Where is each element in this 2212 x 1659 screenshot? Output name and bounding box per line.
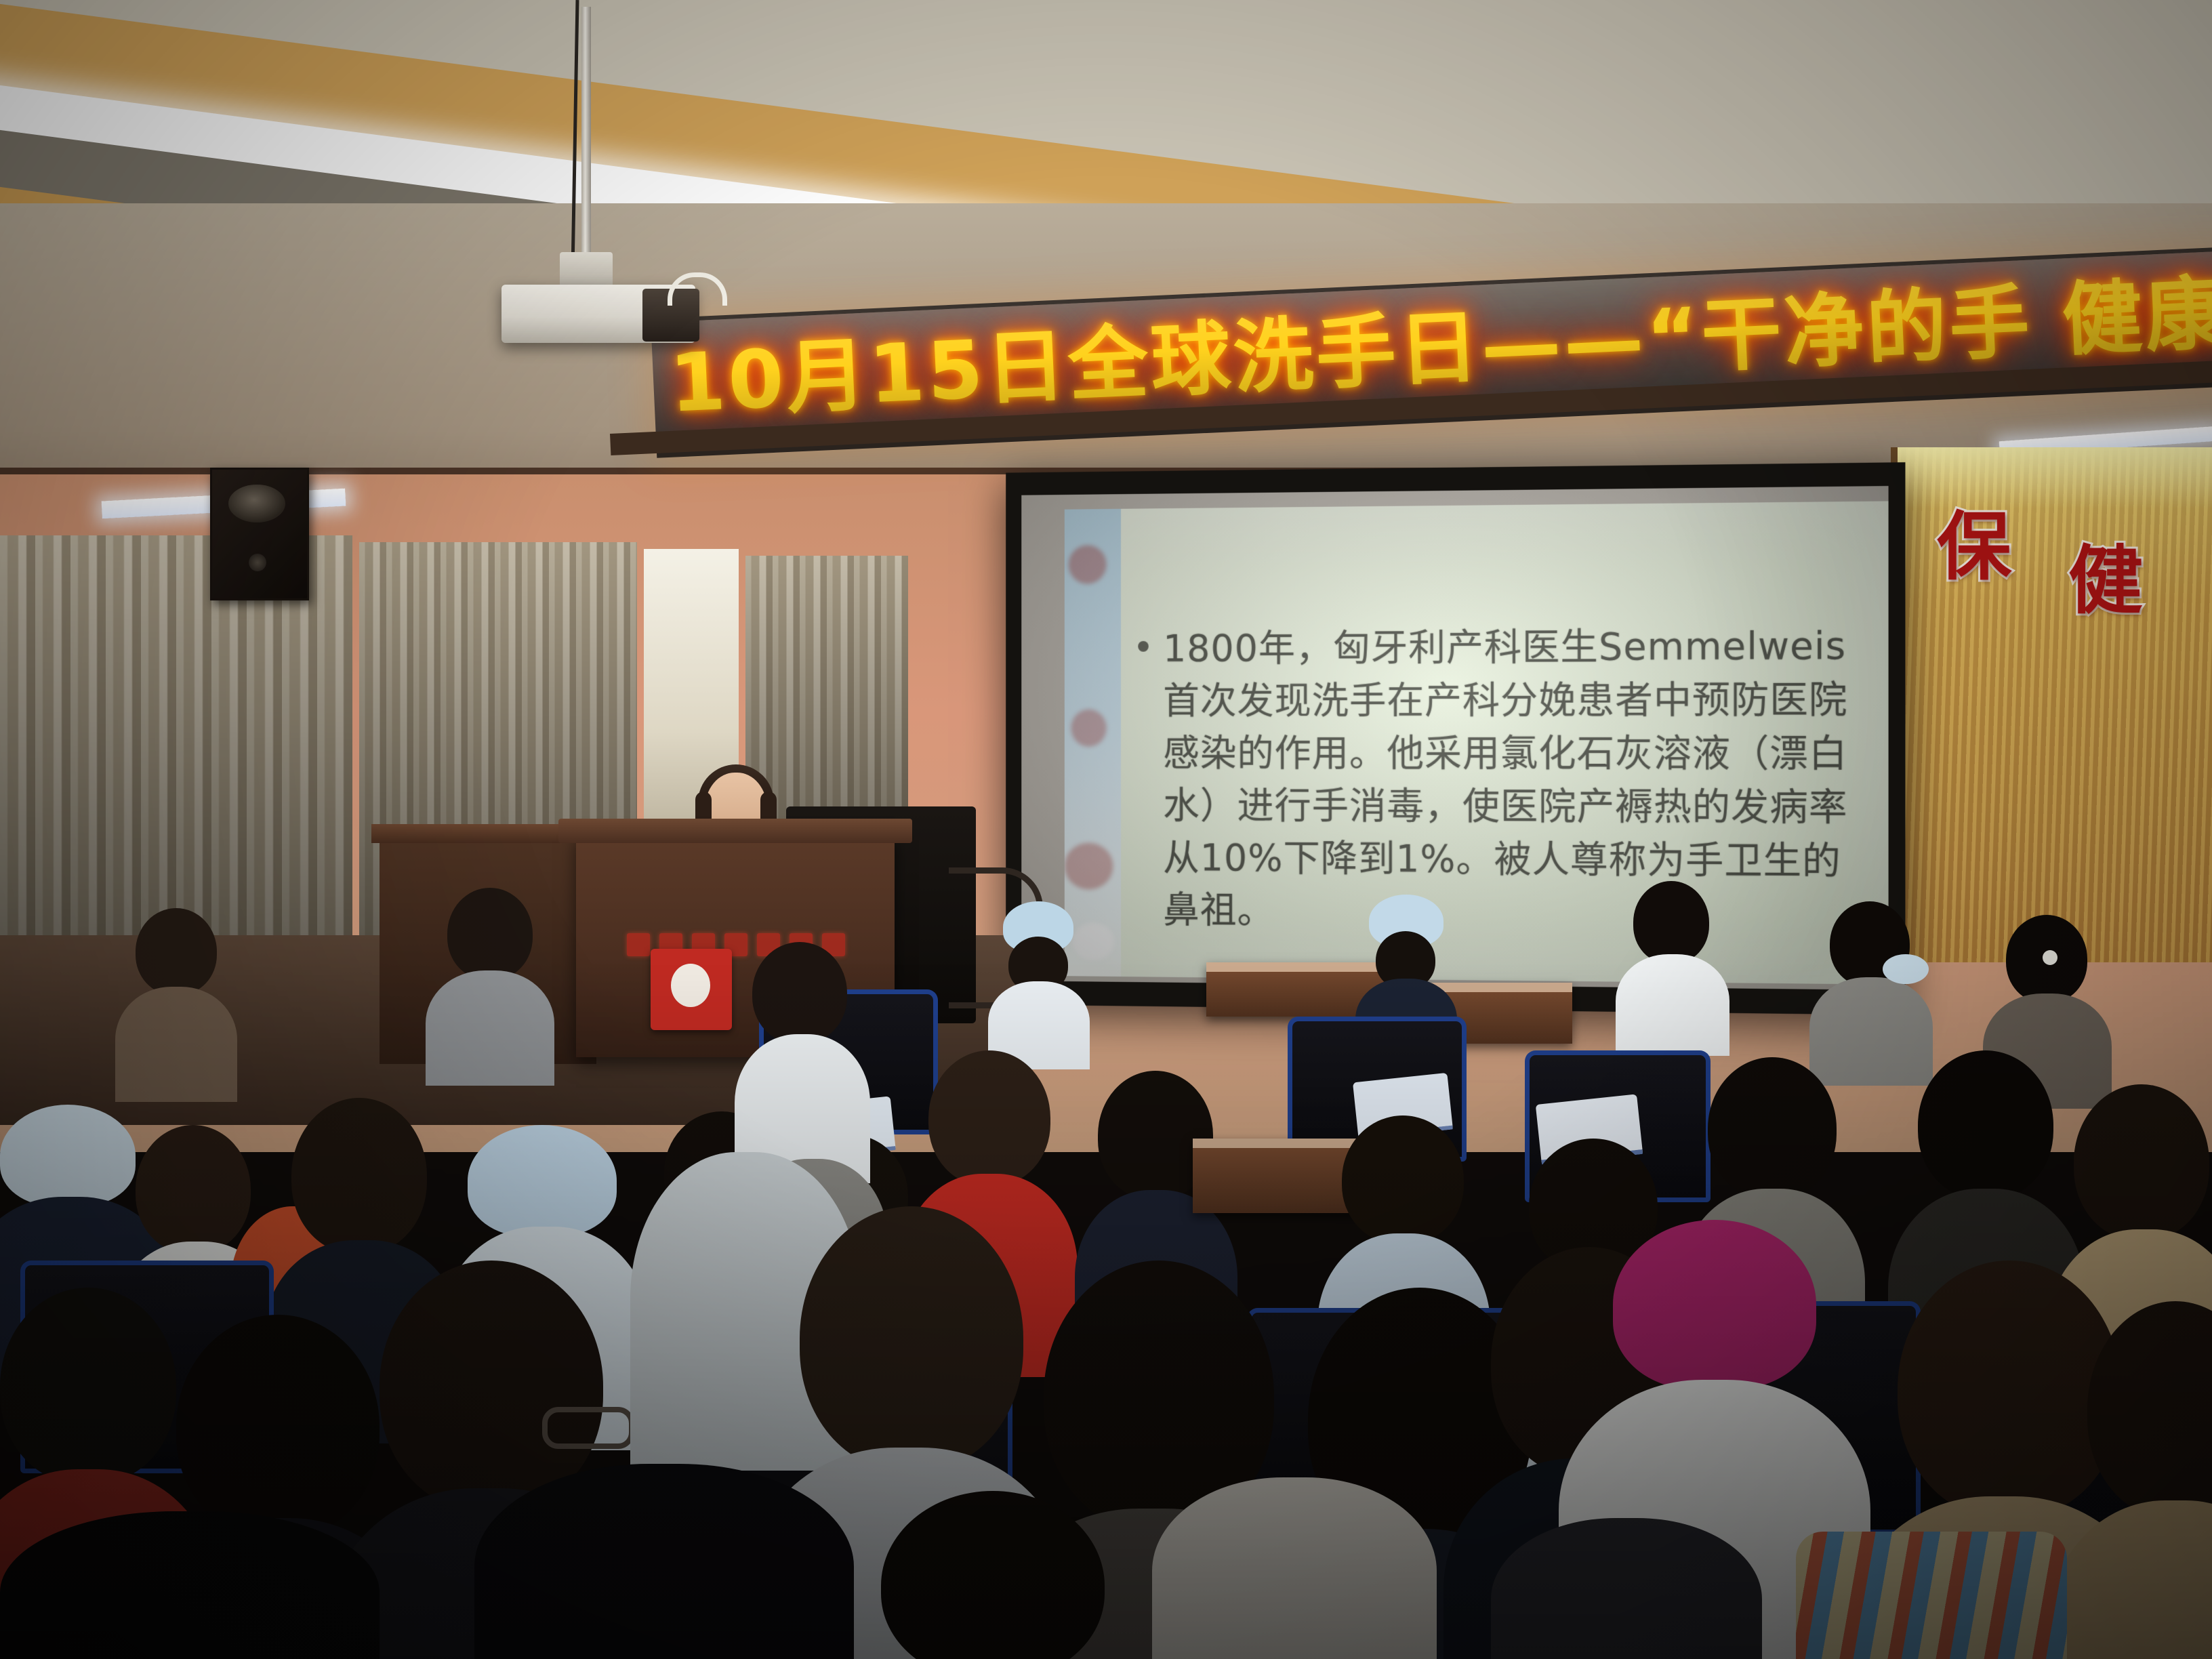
person-head — [928, 1050, 1050, 1186]
conference-hall-photo: 10月15日全球洗手日——“干净的手 健康的秘诀 保 健 — [0, 0, 2212, 1659]
person-head — [1342, 1115, 1464, 1244]
blue-surgical-cap — [0, 1105, 136, 1206]
person-torso — [0, 1511, 380, 1659]
person-head — [136, 1125, 251, 1254]
person-torso — [1616, 954, 1729, 1056]
projector-mount-pole — [581, 7, 591, 264]
person-head — [1633, 881, 1709, 964]
slide-bubble-icon — [1069, 545, 1107, 584]
person-torso — [426, 970, 554, 1086]
person-head — [1708, 1057, 1837, 1200]
panel-gloss — [1898, 447, 2212, 508]
person-torso — [474, 1464, 854, 1659]
hair-clip — [2043, 950, 2057, 965]
seated-audience — [0, 881, 2212, 1659]
person-head — [0, 1288, 176, 1484]
person-torso — [1809, 977, 1933, 1086]
person-head — [1898, 1261, 2121, 1518]
banner-char-bao: 保 — [1937, 510, 2011, 584]
slide-bullet-icon — [1138, 641, 1149, 652]
hair-bow — [1883, 954, 1929, 984]
person-torso — [1152, 1477, 1437, 1659]
wall-speaker — [210, 468, 309, 600]
speaker-cone-icon — [228, 485, 285, 523]
blue-surgical-cap — [468, 1125, 617, 1237]
person-torso — [115, 987, 237, 1102]
person-head — [447, 888, 533, 980]
person-head — [2074, 1084, 2209, 1240]
person-torso — [1491, 1518, 1762, 1659]
ceiling-projector — [501, 285, 695, 343]
speaker-tweeter-icon — [249, 554, 266, 571]
striped-sleeve — [1796, 1532, 2067, 1659]
magenta-knit-cap — [1613, 1220, 1816, 1389]
person-head — [176, 1315, 380, 1538]
person-head — [380, 1261, 603, 1511]
person-head — [752, 942, 847, 1044]
slide-bubble-icon-2 — [1071, 710, 1106, 747]
eyeglasses-icon — [542, 1407, 634, 1449]
person-head — [136, 908, 217, 995]
person-head — [291, 1098, 427, 1254]
podium-top-edge — [558, 819, 912, 843]
banner-char-jian: 健 — [2068, 544, 2143, 618]
person-head — [800, 1206, 1023, 1471]
person-head — [1918, 1050, 2053, 1200]
